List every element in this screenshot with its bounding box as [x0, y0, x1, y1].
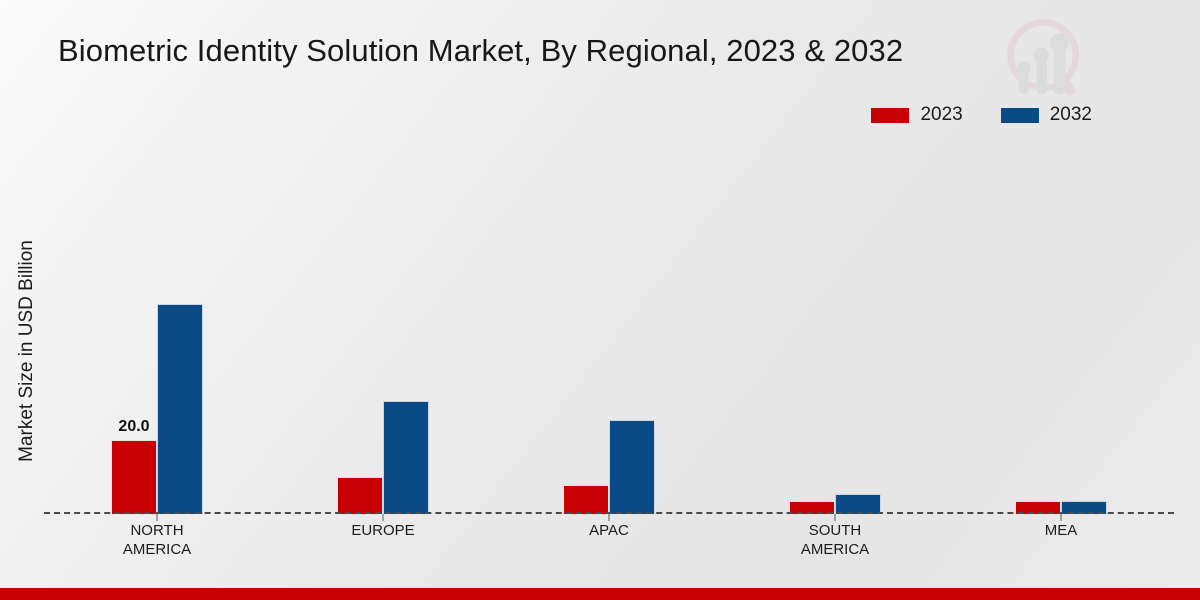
x-label-line: AMERICA	[722, 540, 948, 559]
x-label-mea: MEA	[948, 521, 1174, 559]
x-tick-south-america	[835, 514, 836, 521]
x-label-line: APAC	[496, 521, 722, 540]
bar-2032-south-america[interactable]	[835, 494, 881, 514]
legend-label-2032: 2032	[1050, 104, 1092, 126]
bar-group-apac	[496, 150, 722, 514]
x-tick-mea	[1061, 514, 1062, 521]
legend-label-2023: 2023	[920, 104, 962, 126]
bar-2023-europe[interactable]	[337, 477, 383, 514]
x-label-line: SOUTH	[722, 521, 948, 540]
chart-legend: 2023 2032	[871, 104, 1092, 126]
x-label-apac: APAC	[496, 521, 722, 559]
bar-groups: 20.0	[44, 150, 1174, 514]
x-axis-labels: NORTH AMERICA EUROPE APAC SOUTH AMERICA …	[44, 521, 1174, 559]
bottom-accent-strip	[0, 588, 1200, 600]
watermark-logo-icon	[1000, 12, 1096, 108]
bar-2023-north-america[interactable]: 20.0	[111, 440, 157, 514]
axis-baseline	[44, 512, 1174, 514]
chart-container: Biometric Identity Solution Market, By R…	[0, 0, 1200, 600]
legend-item-2032[interactable]: 2032	[1001, 104, 1092, 126]
legend-swatch-2032	[1001, 108, 1039, 123]
x-label-line: EUROPE	[270, 521, 496, 540]
bar-2032-apac[interactable]	[609, 420, 655, 514]
bar-group-mea	[948, 150, 1174, 514]
x-label-line: MEA	[948, 521, 1174, 540]
bar-group-north-america: 20.0	[44, 150, 270, 514]
plot-area: 20.0	[44, 150, 1174, 514]
bar-2023-apac[interactable]	[563, 485, 609, 514]
y-axis-title: Market Size in USD Billion	[16, 186, 38, 516]
x-label-line: NORTH	[44, 521, 270, 540]
x-label-line: AMERICA	[44, 540, 270, 559]
bar-group-europe	[270, 150, 496, 514]
x-label-south-america: SOUTH AMERICA	[722, 521, 948, 559]
x-tick-apac	[609, 514, 610, 521]
chart-title: Biometric Identity Solution Market, By R…	[58, 33, 903, 69]
legend-swatch-2023	[871, 108, 909, 123]
bar-group-south-america	[722, 150, 948, 514]
x-label-europe: EUROPE	[270, 521, 496, 559]
legend-item-2023[interactable]: 2023	[871, 104, 962, 126]
bar-2032-europe[interactable]	[383, 401, 429, 514]
bar-value-label-2023-north-america: 20.0	[118, 418, 149, 436]
bar-2032-north-america[interactable]	[157, 304, 203, 514]
x-tick-north-america	[157, 514, 158, 521]
x-label-north-america: NORTH AMERICA	[44, 521, 270, 559]
x-tick-europe	[383, 514, 384, 521]
